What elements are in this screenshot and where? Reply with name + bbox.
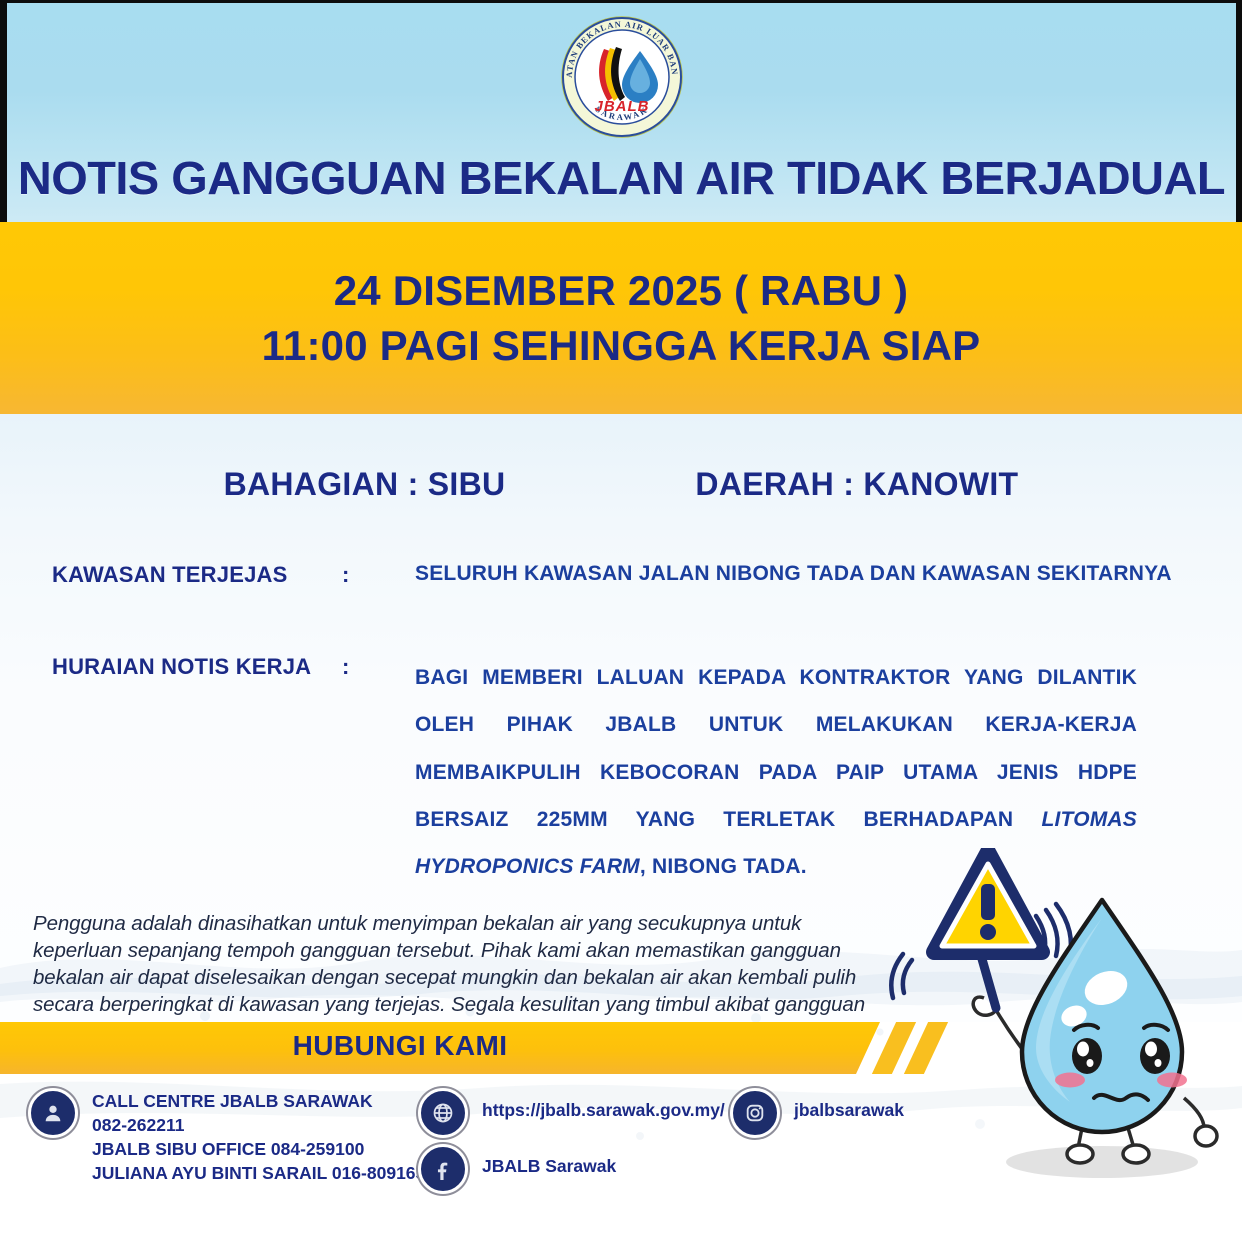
work-description-part1: BAGI MEMBERI LALUAN KEPADA KONTRAKTOR YA… xyxy=(415,666,1137,831)
facebook-contact[interactable]: JBALB Sarawak xyxy=(418,1144,616,1194)
call-centre-text: CALL CENTRE JBALB SARAWAK 082-262211 JBA… xyxy=(92,1088,435,1186)
work-description-part2: , NIBONG TADA. xyxy=(640,855,807,878)
affected-area-colon: : xyxy=(342,562,415,588)
website-url[interactable]: https://jbalb.sarawak.gov.my/ xyxy=(482,1088,725,1123)
poster-header: JABATAN BEKALAN AIR LUAR BANDAR SARAWAK … xyxy=(0,0,1242,222)
instagram-contact[interactable]: jbalbsarawak xyxy=(730,1088,904,1138)
call-centre-line3: JBALB SIBU OFFICE 084-259100 xyxy=(92,1138,435,1162)
call-centre-contact[interactable]: CALL CENTRE JBALB SARAWAK 082-262211 JBA… xyxy=(28,1088,435,1186)
work-description-label: HURAIAN NOTIS KERJA xyxy=(52,654,342,680)
region-row: BAHAGIAN : SIBU DAERAH : KANOWIT xyxy=(0,466,1242,503)
contact-heading: HUBUNGI KAMI xyxy=(0,1030,800,1062)
affected-area-row: KAWASAN TERJEJAS : SELURUH KAWASAN JALAN… xyxy=(52,562,1172,588)
work-description-row: HURAIAN NOTIS KERJA : BAGI MEMBERI LALUA… xyxy=(52,654,1137,890)
notice-date: 24 DISEMBER 2025 ( RABU ) xyxy=(334,263,908,318)
poster-footer: CALL CENTRE JBALB SARAWAK 082-262211 JBA… xyxy=(0,1074,1242,1234)
call-centre-line1: CALL CENTRE JBALB SARAWAK xyxy=(92,1090,435,1114)
svg-text:JBALB: JBALB xyxy=(594,98,649,115)
notice-time: 11:00 PAGI SEHINGGA KERJA SIAP xyxy=(262,318,981,373)
notice-body: BAHAGIAN : SIBU DAERAH : KANOWIT KAWASAN… xyxy=(0,414,1242,1022)
facebook-icon xyxy=(418,1144,468,1194)
affected-area-value: SELURUH KAWASAN JALAN NIBONG TADA DAN KA… xyxy=(415,562,1172,586)
notice-poster: JABATAN BEKALAN AIR LUAR BANDAR SARAWAK … xyxy=(0,0,1242,1234)
work-description-value: BAGI MEMBERI LALUAN KEPADA KONTRAKTOR YA… xyxy=(415,654,1137,890)
call-centre-line2: 082-262211 xyxy=(92,1114,435,1138)
district-label: DAERAH : KANOWIT xyxy=(695,466,1018,503)
affected-area-label: KAWASAN TERJEJAS xyxy=(52,562,342,588)
call-centre-line4: JULIANA AYU BINTI SARAIL 016-8091659 xyxy=(92,1162,435,1186)
person-icon xyxy=(28,1088,78,1138)
page-title: NOTIS GANGGUAN BEKALAN AIR TIDAK BERJADU… xyxy=(0,151,1242,205)
instagram-icon xyxy=(730,1088,780,1138)
jbalb-sarawak-logo: JABATAN BEKALAN AIR LUAR BANDAR SARAWAK … xyxy=(560,15,684,139)
facebook-handle[interactable]: JBALB Sarawak xyxy=(482,1144,616,1179)
date-banner: 24 DISEMBER 2025 ( RABU ) 11:00 PAGI SEH… xyxy=(0,222,1242,414)
division-label: BAHAGIAN : SIBU xyxy=(224,466,506,503)
work-description-colon: : xyxy=(342,654,415,680)
website-contact[interactable]: https://jbalb.sarawak.gov.my/ xyxy=(418,1088,725,1138)
instagram-handle[interactable]: jbalbsarawak xyxy=(794,1088,904,1123)
globe-icon xyxy=(418,1088,468,1138)
